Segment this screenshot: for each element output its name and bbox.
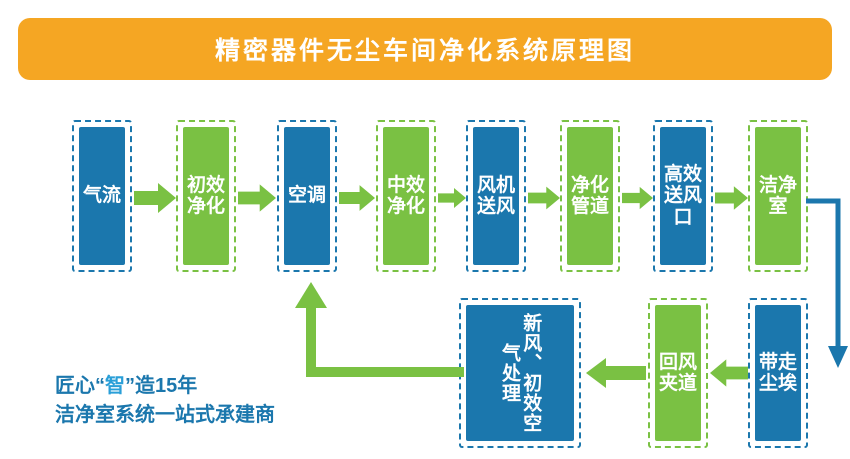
arrow-carry-dust-to-return-duct (710, 358, 748, 388)
arrow-airflow-to-pre-filter (134, 183, 176, 213)
node-fresh-air: 新风、初效空气处理 (459, 298, 581, 448)
slogan-line-2: 洁净室系统一站式承建商 (55, 401, 385, 430)
node-air-conditioner: 空调 (277, 120, 337, 272)
page-title: 精密器件无尘车间净化系统原理图 (215, 31, 635, 67)
node-airflow-label: 气流 (79, 127, 125, 265)
arrow-clean-duct-to-hepa-outlet (622, 183, 653, 213)
node-return-duct-label: 回风夹道 (655, 305, 701, 441)
node-return-duct: 回风夹道 (648, 298, 708, 448)
node-hepa-outlet-label: 高效送风口 (660, 127, 706, 265)
slogan-line-1: 匠心“智”造15年 (55, 372, 385, 401)
node-pre-filter-label: 初效净化 (183, 127, 229, 265)
arrow-medium-filter-to-fan-supply (438, 183, 466, 213)
arrow-air-conditioner-to-medium-filter (339, 183, 375, 213)
slogan-accent-word: 智 (105, 375, 125, 397)
node-medium-filter-label: 中效净化 (383, 127, 429, 265)
node-pre-filter: 初效净化 (176, 120, 236, 272)
node-clean-duct: 净化管道 (560, 120, 620, 272)
node-fresh-air-label: 新风、初效空气处理 (499, 307, 542, 439)
arrow-fan-supply-to-clean-duct (528, 183, 560, 213)
node-cleanroom-label: 洁净室 (755, 127, 801, 265)
slogan-line1-b: 造15年 (135, 375, 197, 397)
slogan-line1-a: 匠心 (55, 375, 95, 397)
node-cleanroom: 洁净室 (748, 120, 808, 272)
node-carry-dust-label: 带走尘埃 (755, 305, 801, 441)
title-banner: 精密器件无尘车间净化系统原理图 (18, 18, 832, 80)
diagram-canvas: 精密器件无尘车间净化系统原理图 气流 初效净化 空调 中效净化 风机送风 净化管… (0, 0, 850, 459)
slogan: 匠心“智”造15年 洁净室系统一站式承建商 (55, 372, 385, 430)
slogan-quote-close: ” (125, 375, 135, 397)
arrow-pre-filter-to-air-conditioner (238, 183, 276, 213)
arrow-return-duct-to-fresh-air (586, 358, 646, 388)
node-medium-filter: 中效净化 (376, 120, 436, 272)
node-air-conditioner-label: 空调 (284, 127, 330, 265)
connector-fresh-air-to-air-conditioner (289, 280, 464, 380)
node-hepa-outlet: 高效送风口 (653, 120, 713, 272)
arrow-hepa-outlet-to-cleanroom (715, 183, 748, 213)
slogan-quote-open: “ (95, 375, 105, 397)
node-carry-dust: 带走尘埃 (748, 298, 808, 448)
connector-cleanroom-to-carry-dust (806, 196, 850, 376)
node-fan-supply: 风机送风 (466, 120, 526, 272)
node-fan-supply-label: 风机送风 (473, 127, 519, 265)
node-clean-duct-label: 净化管道 (567, 127, 613, 265)
node-airflow: 气流 (72, 120, 132, 272)
